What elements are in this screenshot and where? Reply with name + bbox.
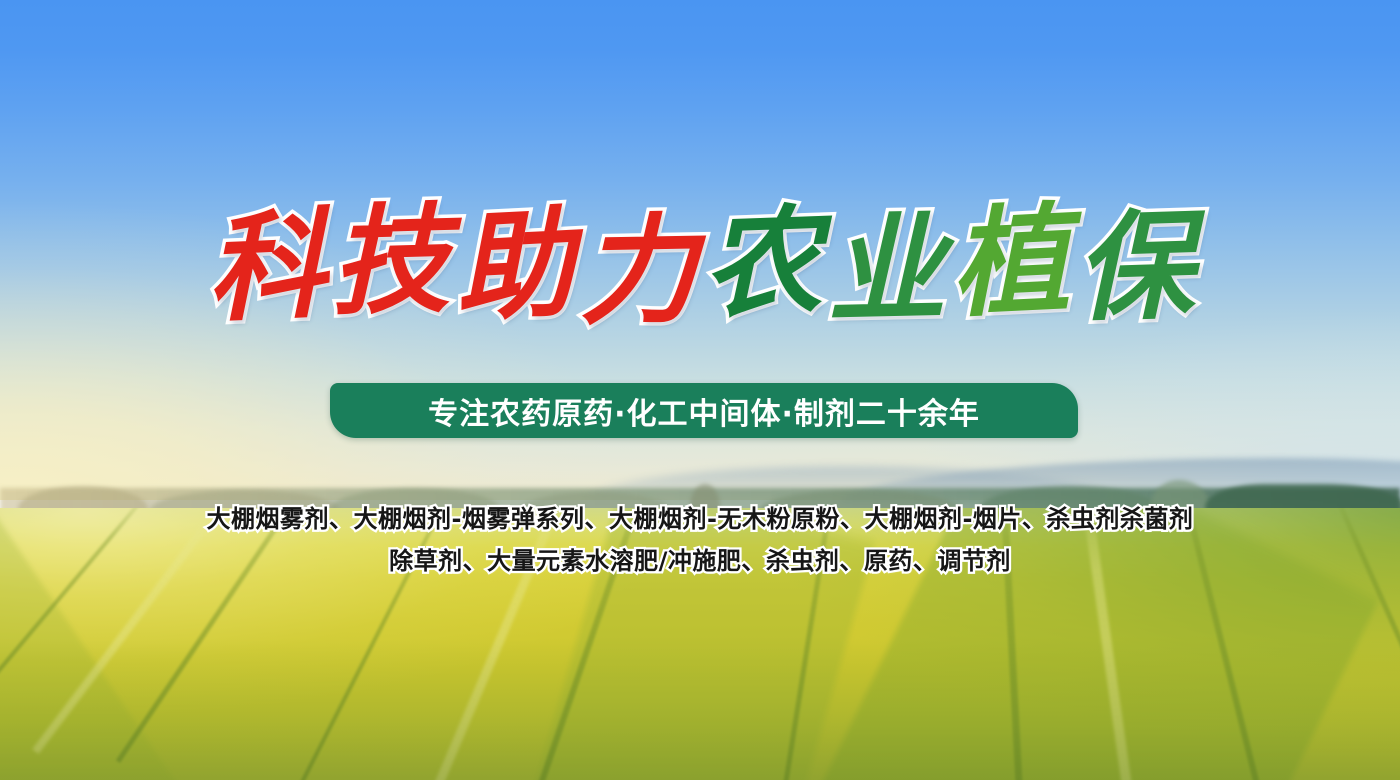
hero-banner: 科 技 助 力 农 业 植 保 专注农药原药·化工中间体·制剂二十余年 大棚烟雾… — [0, 0, 1400, 780]
field-bottom-shade — [0, 640, 1400, 780]
crop-field — [0, 508, 1400, 780]
subtitle-text: 专注农药原药·化工中间体·制剂二十余年 — [428, 389, 980, 433]
subtitle-pill: 专注农药原药·化工中间体·制剂二十余年 — [330, 383, 1078, 438]
